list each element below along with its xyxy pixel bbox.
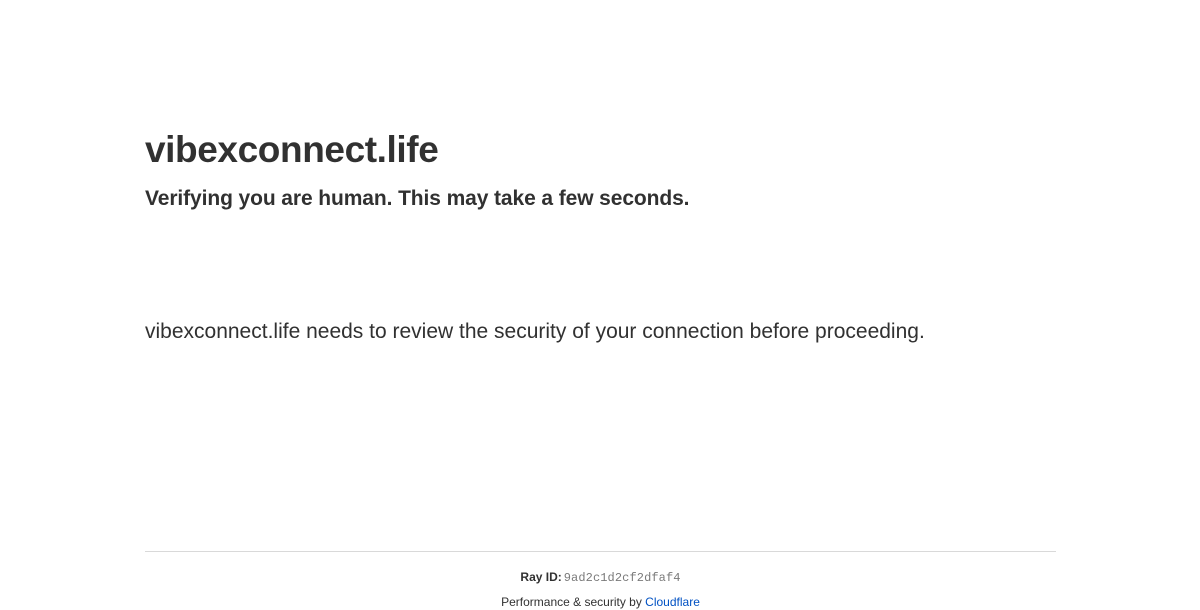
footer-attribution: Performance & security by Cloudflare	[145, 586, 1056, 610]
page-title: vibexconnect.life	[145, 128, 1056, 172]
challenge-description: vibexconnect.life needs to review the se…	[145, 298, 945, 350]
ray-id-label: Ray ID:	[520, 570, 561, 584]
footer-attribution-prefix: Performance & security by	[501, 595, 645, 609]
challenge-header: vibexconnect.life Verifying you are huma…	[145, 0, 1056, 212]
ray-id: Ray ID:9ad2c1d2cf2dfaf4	[145, 570, 1056, 586]
footer-inner: Ray ID:9ad2c1d2cf2dfaf4 Performance & se…	[145, 552, 1056, 610]
footer: Ray ID:9ad2c1d2cf2dfaf4 Performance & se…	[145, 551, 1056, 610]
challenge-status-text: Verifying you are human. This may take a…	[145, 172, 1056, 212]
challenge-widget-container[interactable]	[145, 212, 445, 298]
ray-id-value: 9ad2c1d2cf2dfaf4	[562, 571, 681, 585]
challenge-page: vibexconnect.life Verifying you are huma…	[0, 0, 1200, 600]
cloudflare-link[interactable]: Cloudflare	[645, 595, 700, 609]
challenge-content-column: vibexconnect.life Verifying you are huma…	[145, 0, 1056, 350]
